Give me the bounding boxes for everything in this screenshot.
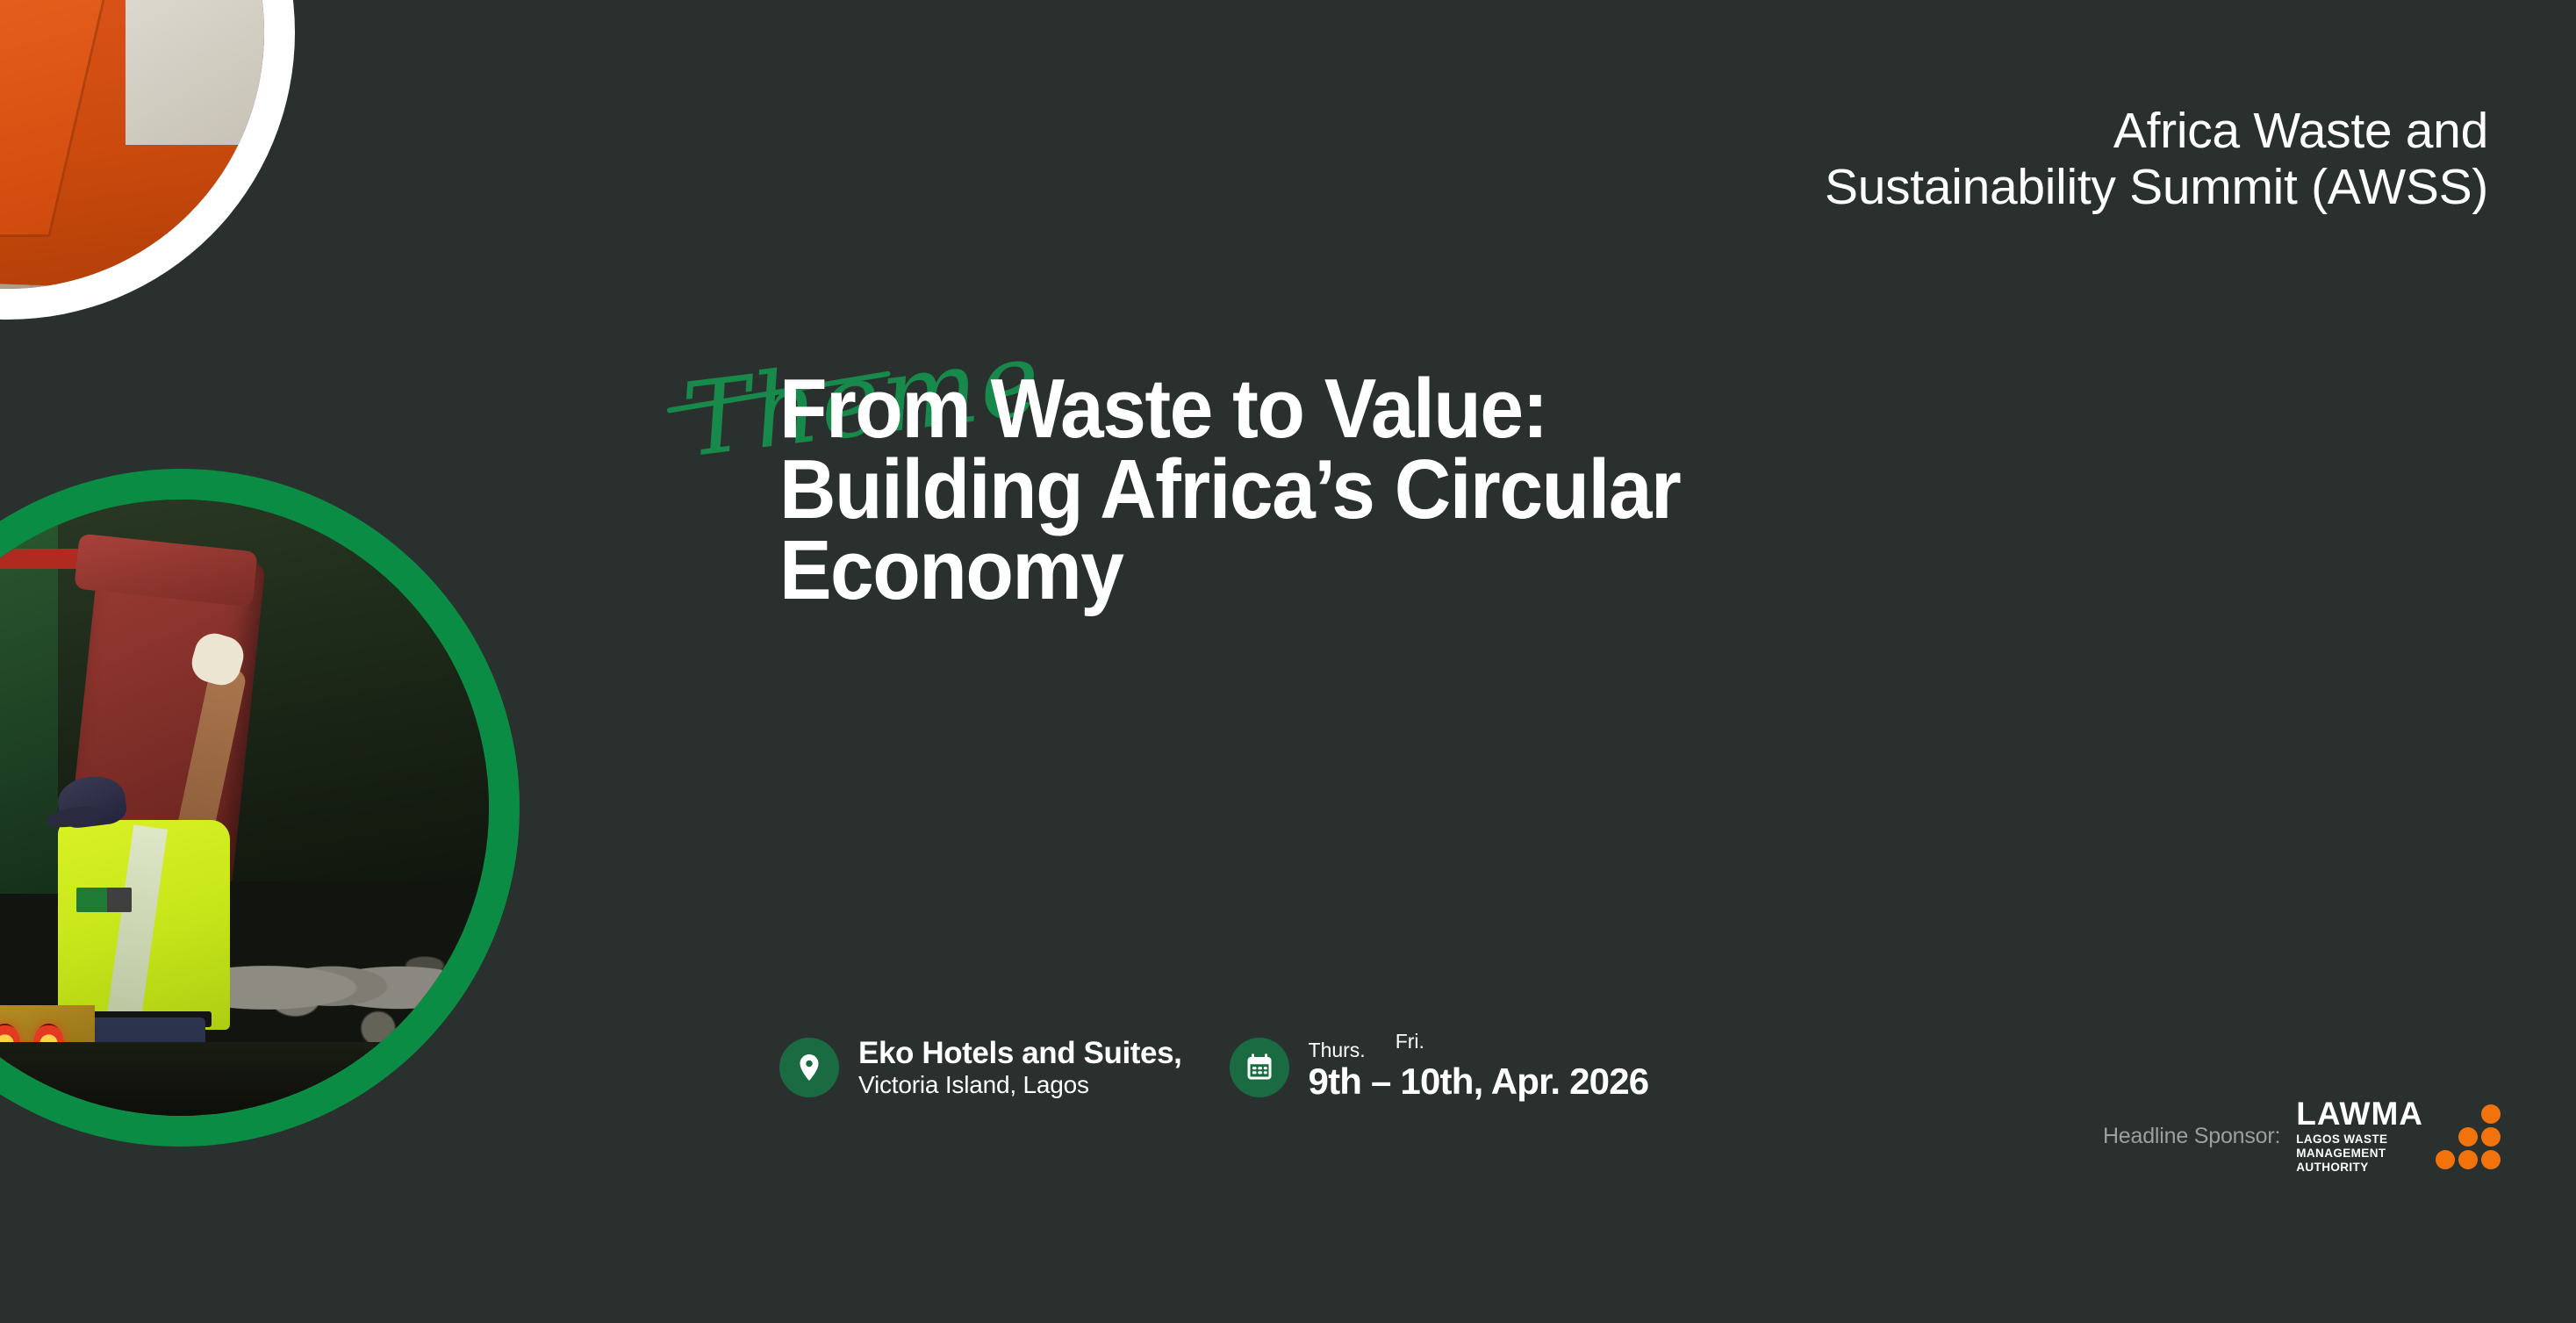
lawma-subtitle: LAGOS WASTE MANAGEMENT AUTHORITY [2296, 1132, 2423, 1175]
venue-area: Victoria Island, Lagos [858, 1071, 1182, 1099]
location-pin-icon [779, 1038, 839, 1097]
shirt-logo [76, 888, 132, 912]
venue-text: Eko Hotels and Suites, Victoria Island, … [858, 1036, 1182, 1098]
theme-block: Theme From Waste to Value: Building Afri… [779, 369, 1748, 611]
lawma-logo: LAWMA LAGOS WASTE MANAGEMENT AUTHORITY [2296, 1099, 2501, 1175]
sponsor-label: Headline Sponsor: [2103, 1124, 2280, 1149]
ground-shadow [0, 1042, 489, 1116]
day-label-start: Thurs. [1309, 1040, 1366, 1061]
refuse-truck-scene [0, 0, 264, 289]
sponsor-block: Headline Sponsor: LAWMA LAGOS WASTE MANA… [2103, 1099, 2501, 1175]
event-banner: Africa Waste and Sustainability Summit (… [0, 0, 2576, 1323]
photo-refuse-truck [0, 0, 264, 289]
date-text: Thurs. Fri. 9th – 10th, Apr. 2026 [1309, 1034, 1649, 1101]
lawma-name: LAWMA [2296, 1099, 2423, 1129]
refuse-bags [230, 943, 452, 1017]
lawma-wordmark: LAWMA LAGOS WASTE MANAGEMENT AUTHORITY [2296, 1099, 2423, 1175]
venue-name: Eko Hotels and Suites, [858, 1036, 1182, 1070]
venue-item: Eko Hotels and Suites, Victoria Island, … [779, 1036, 1182, 1098]
page-title: From Waste to Value: Building Africa’s C… [779, 369, 1680, 611]
date-range: 9th – 10th, Apr. 2026 [1309, 1062, 1649, 1101]
truck-side-panel [126, 0, 264, 145]
day-label-end: Fri. [1396, 1032, 1424, 1052]
photo-sanitation-worker [0, 500, 489, 1116]
sanitation-worker-scene [0, 500, 489, 1116]
date-item: Thurs. Fri. 9th – 10th, Apr. 2026 [1230, 1034, 1649, 1101]
lawma-dots-icon [2436, 1104, 2501, 1169]
summit-name: Africa Waste and Sustainability Summit (… [1825, 104, 2488, 216]
event-details-row: Eko Hotels and Suites, Victoria Island, … [779, 1034, 1648, 1101]
day-labels: Thurs. Fri. [1309, 1034, 1649, 1061]
calendar-icon [1230, 1038, 1289, 1097]
